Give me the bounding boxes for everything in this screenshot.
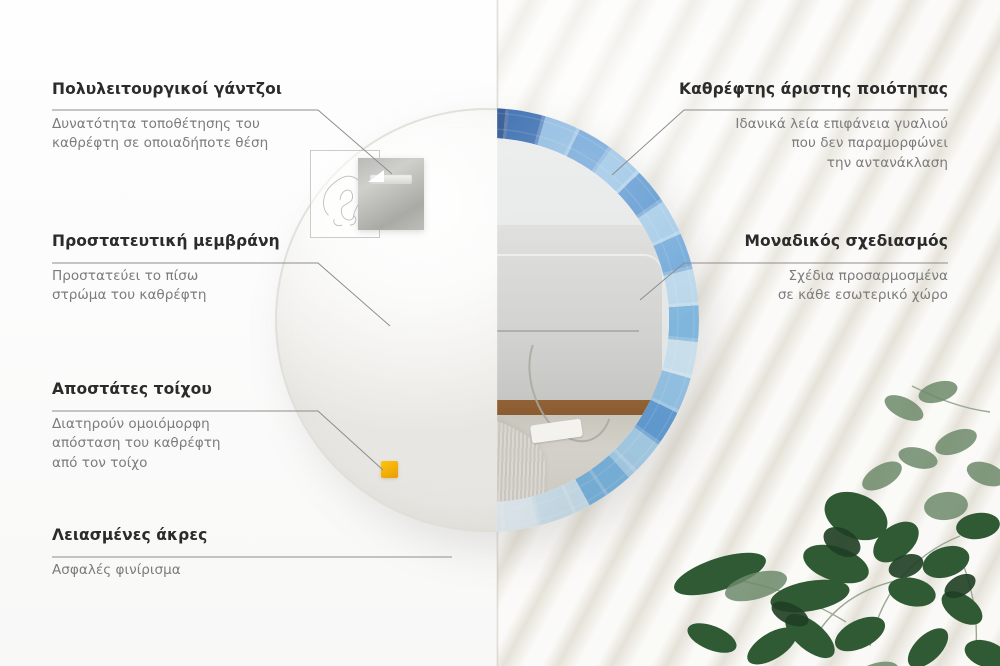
callout-unique-design-desc: Σχέδια προσαρμοσμένα σε κάθε εσωτερικό χ…: [648, 267, 948, 306]
callout-edges: Λειασμένες άκρες Ασφαλές φινίρισμα: [52, 526, 352, 580]
callout-hooks: Πολυλειτουργικοί γάντζοι Δυνατότητα τοπο…: [52, 80, 352, 154]
callout-unique-design: Μοναδικός σχεδιασμός Σχέδια προσαρμοσμέν…: [648, 232, 948, 306]
callout-spacers: Αποστάτες τοίχου Διατηρούν ομοιόμορφη απ…: [52, 380, 352, 473]
callout-unique-design-title: Μοναδικός σχεδιασμός: [648, 232, 948, 250]
callout-hooks-title: Πολυλειτουργικοί γάντζοι: [52, 80, 352, 98]
callout-spacers-desc: Διατηρούν ομοιόμορφη απόσταση του καθρέφ…: [52, 415, 352, 473]
callout-quality-mirror-title: Καθρέφτης άριστης ποιότητας: [648, 80, 948, 98]
callout-hooks-desc: Δυνατότητα τοποθέτησης του καθρέφτη σε ο…: [52, 115, 352, 154]
callout-quality-mirror: Καθρέφτης άριστης ποιότητας Ιδανικά λεία…: [648, 80, 948, 173]
wall-hook-plate: [358, 158, 424, 230]
callout-quality-mirror-desc: Ιδανικά λεία επιφάνεια γυαλιού που δεν π…: [648, 115, 948, 173]
wall-spacer-yellow: [381, 461, 398, 478]
callout-membrane-title: Προστατευτική μεμβράνη: [52, 232, 352, 250]
hook-slot: [370, 174, 412, 184]
callout-membrane: Προστατευτική μεμβράνη Προστατεύει το πί…: [52, 232, 352, 306]
callout-spacers-title: Αποστάτες τοίχου: [52, 380, 352, 398]
eucalyptus-leaves: [660, 346, 1000, 666]
callout-edges-title: Λειασμένες άκρες: [52, 526, 352, 544]
callout-membrane-desc: Προστατεύει το πίσω στρώμα του καθρέφτη: [52, 267, 352, 306]
callout-edges-desc: Ασφαλές φινίρισμα: [52, 561, 352, 580]
infographic-canvas: Πολυλειτουργικοί γάντζοι Δυνατότητα τοπο…: [0, 0, 1000, 666]
